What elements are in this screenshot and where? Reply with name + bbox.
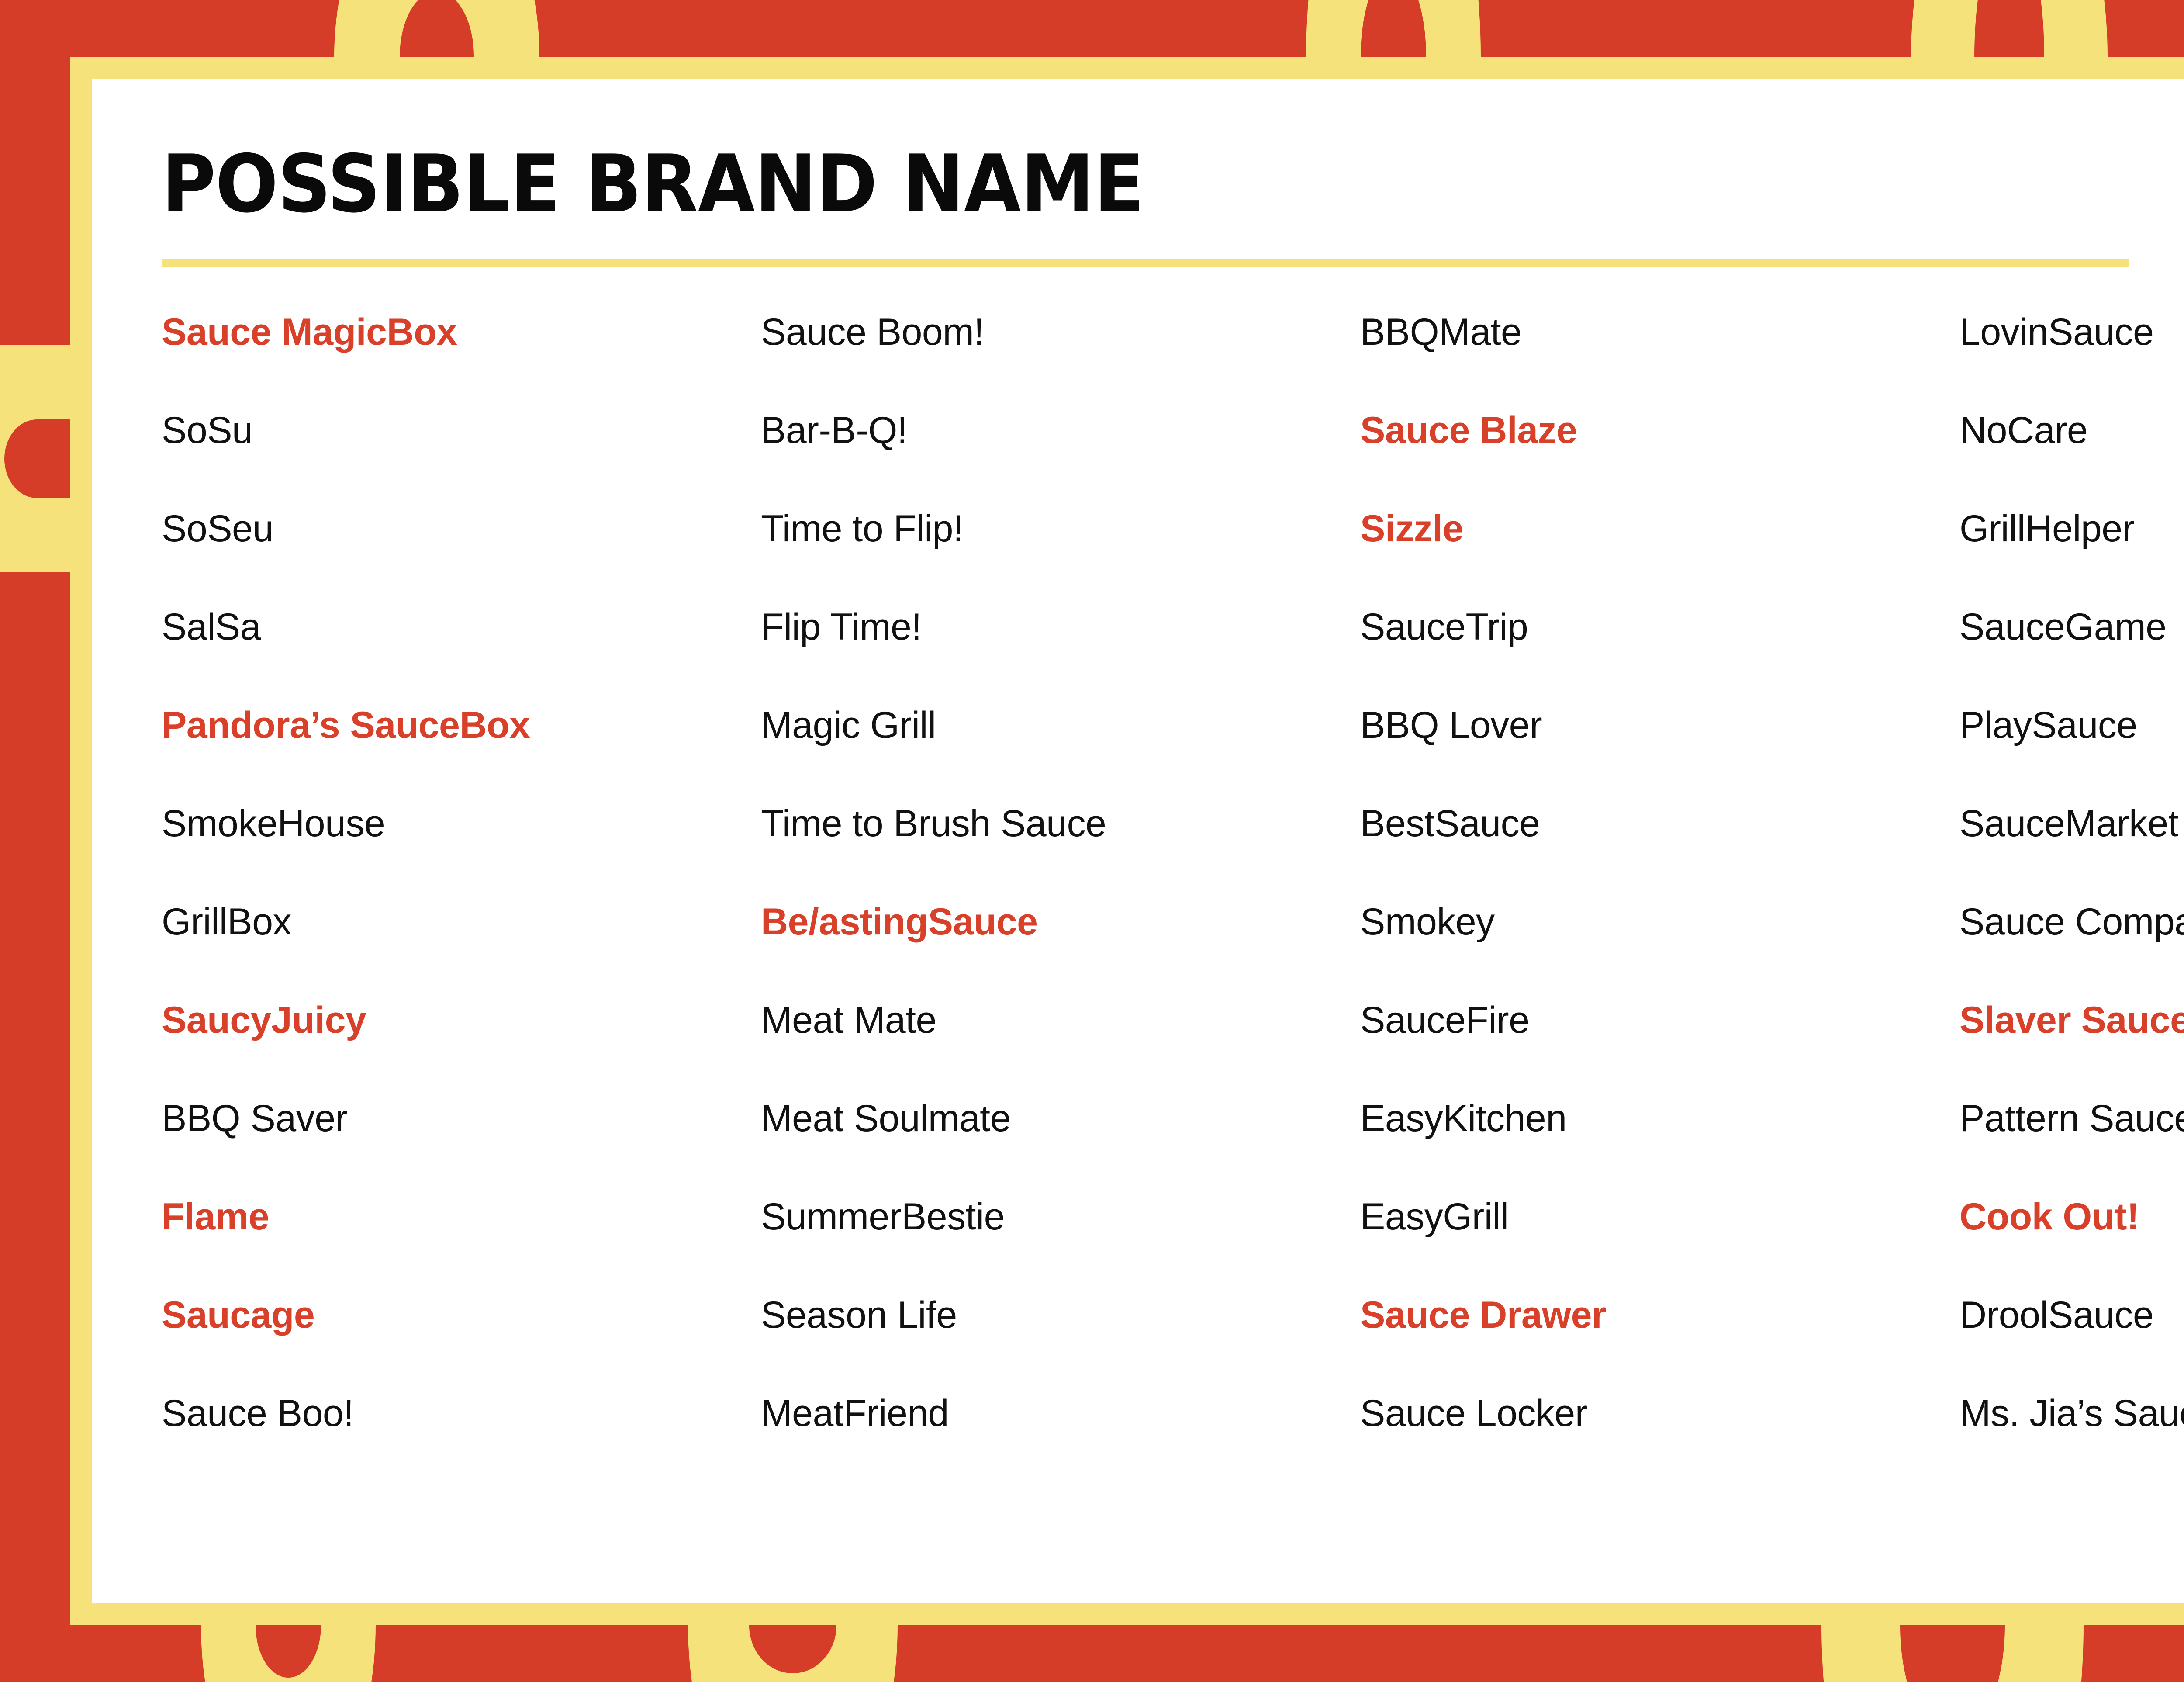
brand-name-column: LovinSauceNoCareGrillHelperSauceGamePlay… xyxy=(1959,313,2184,1432)
page-title: POSSIBLE BRAND NAME xyxy=(162,144,2184,224)
brand-name-item: SalSa xyxy=(162,608,761,646)
decorative-arch-top xyxy=(1911,0,2108,57)
brand-name-item: Meat Soulmate xyxy=(761,1100,1360,1137)
brand-name-item-highlighted: Sizzle xyxy=(1360,510,1959,547)
decorative-arch-hole xyxy=(400,0,474,57)
brand-name-item-highlighted: Sauce MagicBox xyxy=(162,313,761,351)
decorative-arch-bottom xyxy=(1821,1625,2084,1682)
decorative-arch-hole xyxy=(256,1625,321,1678)
brand-name-item: EasyKitchen xyxy=(1360,1100,1959,1137)
brand-name-item: DroolSauce xyxy=(1959,1296,2184,1334)
decorative-arch-bottom xyxy=(688,1625,898,1682)
brand-name-item: SoSu xyxy=(162,412,761,449)
brand-name-column: Sauce MagicBoxSoSuSoSeuSalSaPandora’s Sa… xyxy=(162,313,761,1432)
brand-name-item: Flip Time! xyxy=(761,608,1360,646)
brand-name-item: NoCare xyxy=(1959,412,2184,449)
brand-name-item-highlighted: Pandora’s SauceBox xyxy=(162,706,761,744)
brand-name-item: BBQ Lover xyxy=(1360,706,1959,744)
brand-name-column: BBQMateSauce BlazeSizzleSauceTripBBQ Lov… xyxy=(1360,313,1959,1432)
brand-name-item: MeatFriend xyxy=(761,1395,1360,1432)
yellow-frame-border: POSSIBLE BRAND NAME Sauce MagicBoxSoSuSo… xyxy=(70,57,2184,1625)
brand-name-item: GrillHelper xyxy=(1959,510,2184,547)
brand-name-item: Sauce Boo! xyxy=(162,1395,761,1432)
brand-name-item: Time to Flip! xyxy=(761,510,1360,547)
brand-name-item: Bar-B-Q! xyxy=(761,412,1360,449)
brand-name-item: SauceMarket xyxy=(1959,805,2184,842)
brand-name-item: Magic Grill xyxy=(761,706,1360,744)
brand-name-item: SauceGame xyxy=(1959,608,2184,646)
brand-name-item: Sauce Boom! xyxy=(761,313,1360,351)
brand-name-item: Time to Brush Sauce xyxy=(761,805,1360,842)
brand-name-item: Pattern Sauce xyxy=(1959,1100,2184,1137)
brand-name-item: Sauce Company xyxy=(1959,903,2184,941)
brand-name-item: BBQMate xyxy=(1360,313,1959,351)
title-underline-divider xyxy=(162,259,2129,267)
white-content-card: POSSIBLE BRAND NAME Sauce MagicBoxSoSuSo… xyxy=(92,79,2184,1603)
brand-name-item: SauceTrip xyxy=(1360,608,1959,646)
brand-name-item-highlighted: Sauce Drawer xyxy=(1360,1296,1959,1334)
decorative-arch-hole xyxy=(1900,1625,2005,1682)
brand-name-item: Season Life xyxy=(761,1296,1360,1334)
brand-name-item: EasyGrill xyxy=(1360,1198,1959,1236)
brand-name-columns: Sauce MagicBoxSoSuSoSeuSalSaPandora’s Sa… xyxy=(162,313,2184,1432)
brand-name-item: BBQ Saver xyxy=(162,1100,761,1137)
brand-name-item: SmokeHouse xyxy=(162,805,761,842)
brand-name-item-highlighted: Cook Out! xyxy=(1959,1198,2184,1236)
brand-name-item: Ms. Jia’s Sauce xyxy=(1959,1395,2184,1432)
decorative-arch-hole xyxy=(1974,0,2044,57)
poster-canvas: POSSIBLE BRAND NAME Sauce MagicBoxSoSuSo… xyxy=(0,0,2184,1682)
brand-name-item-highlighted: Sauce Blaze xyxy=(1360,412,1959,449)
decorative-arch-hole xyxy=(1361,0,1426,57)
brand-name-item: SummerBestie xyxy=(761,1198,1360,1236)
brand-name-item: GrillBox xyxy=(162,903,761,941)
brand-name-item-highlighted: Slaver Sauce xyxy=(1959,1001,2184,1039)
brand-name-column: Sauce Boom!Bar-B-Q!Time to Flip!Flip Tim… xyxy=(761,313,1360,1432)
brand-name-item: PlaySauce xyxy=(1959,706,2184,744)
decorative-arch-top xyxy=(1306,0,1481,57)
card-inner: POSSIBLE BRAND NAME Sauce MagicBoxSoSuSo… xyxy=(162,144,2184,1564)
brand-name-item-highlighted: Be/astingSauce xyxy=(761,903,1360,941)
decorative-arch-top xyxy=(334,0,539,57)
brand-name-item: Meat Mate xyxy=(761,1001,1360,1039)
brand-name-item: SauceFire xyxy=(1360,1001,1959,1039)
decorative-arch-left xyxy=(0,345,70,572)
brand-name-item: SoSeu xyxy=(162,510,761,547)
brand-name-item: LovinSauce xyxy=(1959,313,2184,351)
decorative-arch-hole xyxy=(4,419,70,498)
brand-name-item-highlighted: Flame xyxy=(162,1198,761,1236)
brand-name-item: Sauce Locker xyxy=(1360,1395,1959,1432)
decorative-arch-hole xyxy=(749,1625,836,1673)
brand-name-item-highlighted: SaucyJuicy xyxy=(162,1001,761,1039)
brand-name-item: BestSauce xyxy=(1360,805,1959,842)
brand-name-item: Smokey xyxy=(1360,903,1959,941)
decorative-arch-bottom xyxy=(201,1625,376,1682)
brand-name-item-highlighted: Saucage xyxy=(162,1296,761,1334)
